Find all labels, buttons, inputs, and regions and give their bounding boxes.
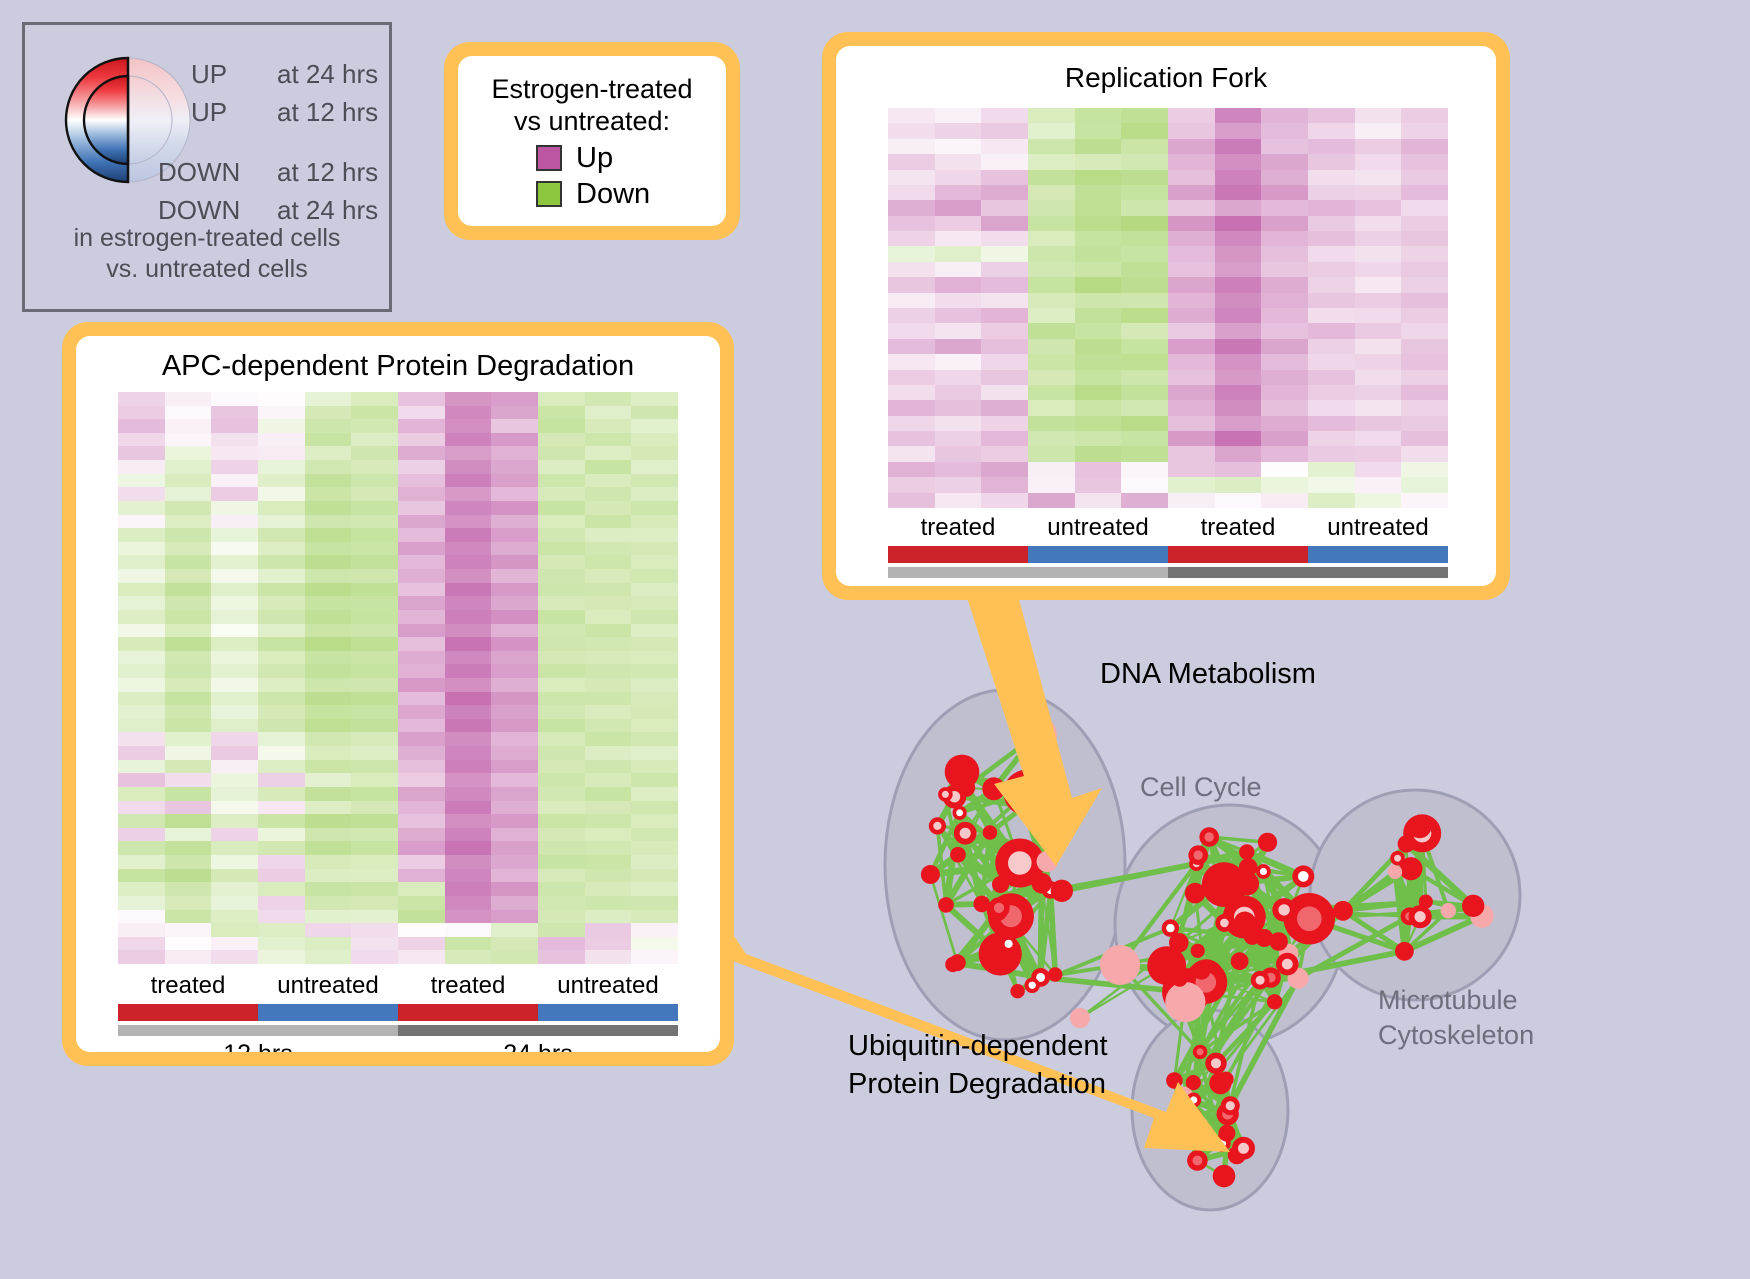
time-label: 24 hrs: [398, 1040, 678, 1052]
group-color-swatch: [118, 1004, 258, 1021]
key-footer-line2: vs. untreated cells: [25, 254, 389, 285]
network-node[interactable]: [1051, 880, 1073, 902]
arrow-replication-fork-to-dna-metabolism: [920, 588, 1160, 878]
time-color-swatch: [888, 567, 1168, 578]
network-node[interactable]: [1258, 833, 1277, 852]
legend-card: Estrogen-treated vs untreated: Up Down: [444, 42, 740, 240]
group-label: treated: [1168, 514, 1308, 542]
legend-item-down: Down: [536, 178, 726, 211]
group-color-swatch: [1028, 546, 1168, 563]
network-node[interactable]: [1333, 901, 1353, 921]
panel-replication-fork: Replication Fork treateduntreatedtreated…: [822, 32, 1510, 600]
legend-item-up: Up: [536, 142, 726, 175]
key-time-3: at 24 hrs: [277, 195, 378, 226]
panel-replication-fork-inner: Replication Fork treateduntreatedtreated…: [836, 46, 1496, 586]
heatmap-replication-fork: [888, 108, 1448, 508]
key-time-2: at 12 hrs: [277, 157, 378, 188]
key-footer-line1: in estrogen-treated cells: [25, 223, 389, 254]
time-color-swatch: [1168, 567, 1448, 578]
key-direction-2: DOWN: [158, 157, 240, 188]
cluster-label-cell-cycle: Cell Cycle: [1140, 772, 1262, 803]
legend-title-line1: Estrogen-treated: [458, 74, 726, 106]
group-color-swatch: [258, 1004, 398, 1021]
group-label: untreated: [538, 972, 678, 1000]
network-node[interactable]: [1462, 895, 1484, 917]
panel-title-apc-degradation: APC-dependent Protein Degradation: [76, 350, 720, 383]
legend-label-up: Up: [576, 142, 613, 175]
network-node[interactable]: [1408, 815, 1431, 838]
key-time-0: at 24 hrs: [277, 59, 378, 90]
legend-card-inner: Estrogen-treated vs untreated: Up Down: [458, 56, 726, 226]
group-color-swatch: [538, 1004, 678, 1021]
time-color-swatch: [398, 1025, 678, 1036]
legend-label-down: Down: [576, 178, 650, 211]
panel-apc-degradation-inner: APC-dependent Protein Degradation treate…: [76, 336, 720, 1052]
network-node[interactable]: [1239, 844, 1254, 859]
pathway-network-diagram: DNA Metabolism Cell Cycle Microtubule Cy…: [790, 620, 1750, 1279]
network-node[interactable]: [938, 897, 954, 913]
timepoint-color-bar-replication-fork: [888, 567, 1448, 578]
time-label: 24 hrs: [1168, 582, 1448, 586]
color-key-box: UP at 24 hrs UP at 12 hrs DOWN at 12 hrs…: [22, 22, 392, 312]
timepoint-color-bar-apc-degradation: [118, 1025, 678, 1036]
network-node[interactable]: [1395, 942, 1414, 961]
group-color-swatch: [398, 1004, 538, 1021]
network-node[interactable]: [1255, 929, 1273, 947]
legend-title: Estrogen-treated vs untreated:: [458, 74, 726, 138]
group-label: untreated: [1028, 514, 1168, 542]
group-color-swatch: [1168, 546, 1308, 563]
network-node[interactable]: [1185, 883, 1206, 904]
group-color-swatch: [1308, 546, 1448, 563]
cluster-label-microtubule-cytoskeleton: Microtubule Cytoskeleton: [1378, 983, 1534, 1053]
panel-title-replication-fork: Replication Fork: [836, 62, 1496, 94]
network-node[interactable]: [1239, 858, 1258, 877]
group-label: untreated: [258, 972, 398, 1000]
key-footer: in estrogen-treated cells vs. untreated …: [25, 223, 389, 286]
cluster-label-dna-metabolism: DNA Metabolism: [1100, 658, 1316, 691]
network-node[interactable]: [1267, 994, 1282, 1009]
treatment-color-bar-apc-degradation: [118, 1004, 678, 1021]
time-label: 12 hrs: [888, 582, 1168, 586]
legend-swatch-up-icon: [536, 145, 562, 171]
heatmap-group-labels-replication-fork: treateduntreatedtreateduntreated: [888, 514, 1448, 542]
network-node[interactable]: [973, 896, 990, 913]
network-node[interactable]: [1441, 903, 1456, 918]
legend-swatch-down-icon: [536, 181, 562, 207]
group-color-swatch: [888, 546, 1028, 563]
key-direction-3: DOWN: [158, 195, 240, 226]
timepoint-labels-replication-fork: 12 hrs24 hrs: [888, 582, 1448, 586]
time-label: 12 hrs: [118, 1040, 398, 1052]
group-label: treated: [118, 972, 258, 1000]
network-node[interactable]: [992, 876, 1009, 893]
treatment-color-bar-replication-fork: [888, 546, 1448, 563]
group-label: untreated: [1308, 514, 1448, 542]
key-time-1: at 12 hrs: [277, 97, 378, 128]
network-node[interactable]: [1388, 865, 1402, 879]
group-label: treated: [398, 972, 538, 1000]
time-color-swatch: [118, 1025, 398, 1036]
group-label: treated: [888, 514, 1028, 542]
heatmap-group-labels-apc-degradation: treateduntreatedtreateduntreated: [118, 972, 678, 1000]
network-node[interactable]: [1398, 835, 1415, 852]
cluster-label-ubiquitin-protein-degradation: Ubiquitin-dependent Protein Degradation: [848, 1028, 1108, 1103]
panel-apc-degradation: APC-dependent Protein Degradation treate…: [62, 322, 734, 1066]
timepoint-labels-apc-degradation: 12 hrs24 hrs: [118, 1040, 678, 1052]
heatmap-apc-degradation: [118, 392, 678, 964]
key-direction-0: UP: [191, 59, 227, 90]
legend-title-line2: vs untreated:: [458, 106, 726, 138]
figure-root: UP at 24 hrs UP at 12 hrs DOWN at 12 hrs…: [0, 0, 1750, 1279]
key-direction-1: UP: [191, 97, 227, 128]
network-node[interactable]: [1419, 895, 1433, 909]
